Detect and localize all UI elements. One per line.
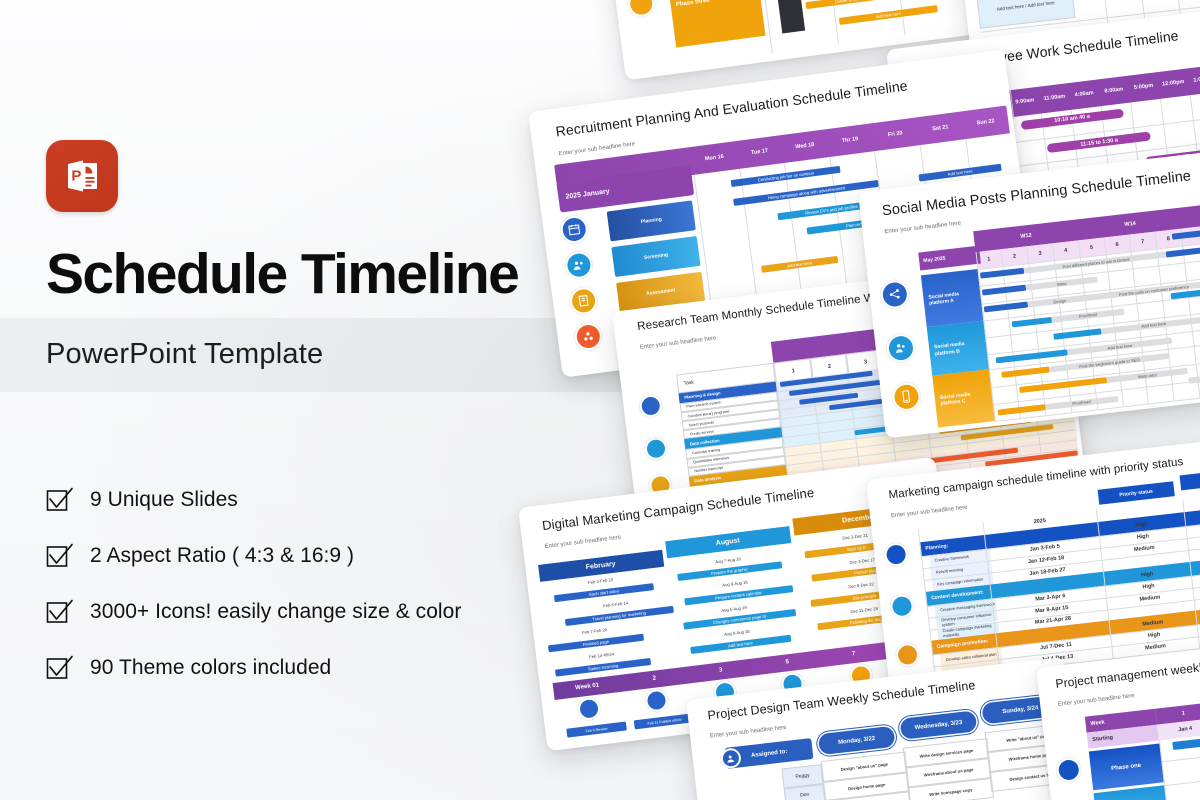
gantt-bar: Add text here [839,5,937,25]
powerpoint-logo-icon: P [46,140,118,212]
phase-three-icon [629,0,654,16]
checkbox-checked-icon [46,486,74,514]
feature-label: 2 Aspect Ratio ( 4:3 & 16:9 ) [90,544,354,568]
week-number: 2 [620,666,688,691]
page-title-wrap: Schedule Timeline [46,245,518,303]
megaphone-icon [897,645,918,666]
platform-label: Social media platform A [921,269,983,327]
feature-item: 3000+ Icons! easily change size & color [46,584,461,640]
time-header: 4:00am [1068,80,1101,110]
month-header: August [665,527,791,559]
feature-item: 2 Aspect Ratio ( 4:3 & 16:9 ) [46,528,461,584]
employee-top-table: Joel / Management Raymond / Customer ser… [965,0,1075,29]
assigned-label: Assigned to: [725,738,813,769]
feature-label: 9 Unique Slides [90,488,238,512]
gantt-bar: Deliver at unique events [806,0,909,9]
social-icon [887,334,914,361]
phase-label: Planning [606,200,696,241]
phase-label: Screening [611,236,701,277]
period-label: May 2025 [918,246,980,270]
edit-icon [892,595,913,616]
post-bar [997,404,1046,415]
week-number: 3 [687,658,755,683]
post-bar: Write intro [1107,368,1188,383]
feature-label: 3000+ Icons! easily change size & color [90,600,461,624]
time-header: 11:00am [1038,83,1071,113]
target-icon [886,544,907,565]
feature-list: 9 Unique Slides 2 Aspect Ratio ( 4:3 & 1… [46,472,461,696]
share-icon [881,281,908,308]
column-header-priority: Priority status [1097,481,1174,505]
day-header: Sun 22 [961,106,1010,140]
day-header: Monday, 3/22 [818,726,896,755]
chart-icon [646,439,666,459]
clipboard-icon [1057,759,1079,781]
svg-text:P: P [71,168,81,185]
day-header: Tue 17 [735,136,784,170]
month-header: February [538,550,664,582]
feature-item: 9 Unique Slides [46,472,461,528]
slide-title: Digital Marketing Campaign Schedule Time… [541,485,815,533]
platform-label: Social media platform C [932,370,994,428]
product-info-panel: P [46,140,566,212]
slide-subheadline: Enter your sub headline here [558,141,635,157]
milestone-icon [647,690,667,710]
slide-social-media[interactable]: Social Media Posts Planning Schedule Tim… [858,144,1200,438]
stage-value: Complete [1184,498,1200,519]
checkbox-checked-icon [46,654,74,682]
time-header: 8:00am [1098,76,1131,106]
milestone-label: Feb 6 Review [566,721,627,737]
time-header: 5:00pm [1127,72,1160,102]
time-header: 9:00am [1008,87,1041,117]
milestone-icon [579,698,599,718]
rating-icon [576,324,602,350]
week-header: W16 [1181,196,1200,228]
feature-item: 90 Theme colors included [46,640,461,696]
post-bar [981,285,1026,296]
checkbox-checked-icon [46,542,74,570]
calendar-icon [561,216,587,242]
week-number: 7 [820,642,888,667]
task-bar: Add text here [761,256,839,273]
day-header: Thr 19 [826,124,875,158]
page-subtitle: PowerPoint Template [46,338,323,371]
team-icon [566,252,592,278]
day-header: Sat 21 [916,112,965,146]
monitor-icon [641,396,661,416]
platform-label: Social media platform B [927,321,989,377]
document-icon [571,288,597,314]
week-label: Week 01 [552,675,622,700]
day-header: Wednesday, 3/23 [900,710,978,739]
day-header: Fri 20 [871,118,920,152]
post-bar [983,302,1028,313]
post-bar [1011,317,1052,328]
slide-subheadline: Enter your sub headline here [884,220,961,235]
day-header: Mon 16 [690,141,739,175]
checkbox-checked-icon [46,598,74,626]
post-bar [979,268,1024,279]
milestone-sideband [772,0,805,33]
mobile-icon [893,384,920,411]
page-title: Schedule Timeline [46,245,518,303]
phase-label: Phase one [1089,744,1164,790]
day-header: Wed 18 [780,130,829,164]
milestone-label: Feb 11 Publish article [634,713,695,729]
post-bar: Work on design [1188,368,1200,384]
phase-three-label: Phase three [666,0,765,47]
column-header-stage: Creation stage [1180,466,1200,490]
feature-label: 90 Theme colors included [90,656,331,680]
slide-subheadline: Enter your sub headline here [640,335,717,350]
time-header: 12:00pm [1157,69,1190,99]
week-number: 5 [753,650,821,675]
cell: Add text here / Add text here [977,0,1075,28]
time-header: 1:00pm [1187,65,1200,95]
